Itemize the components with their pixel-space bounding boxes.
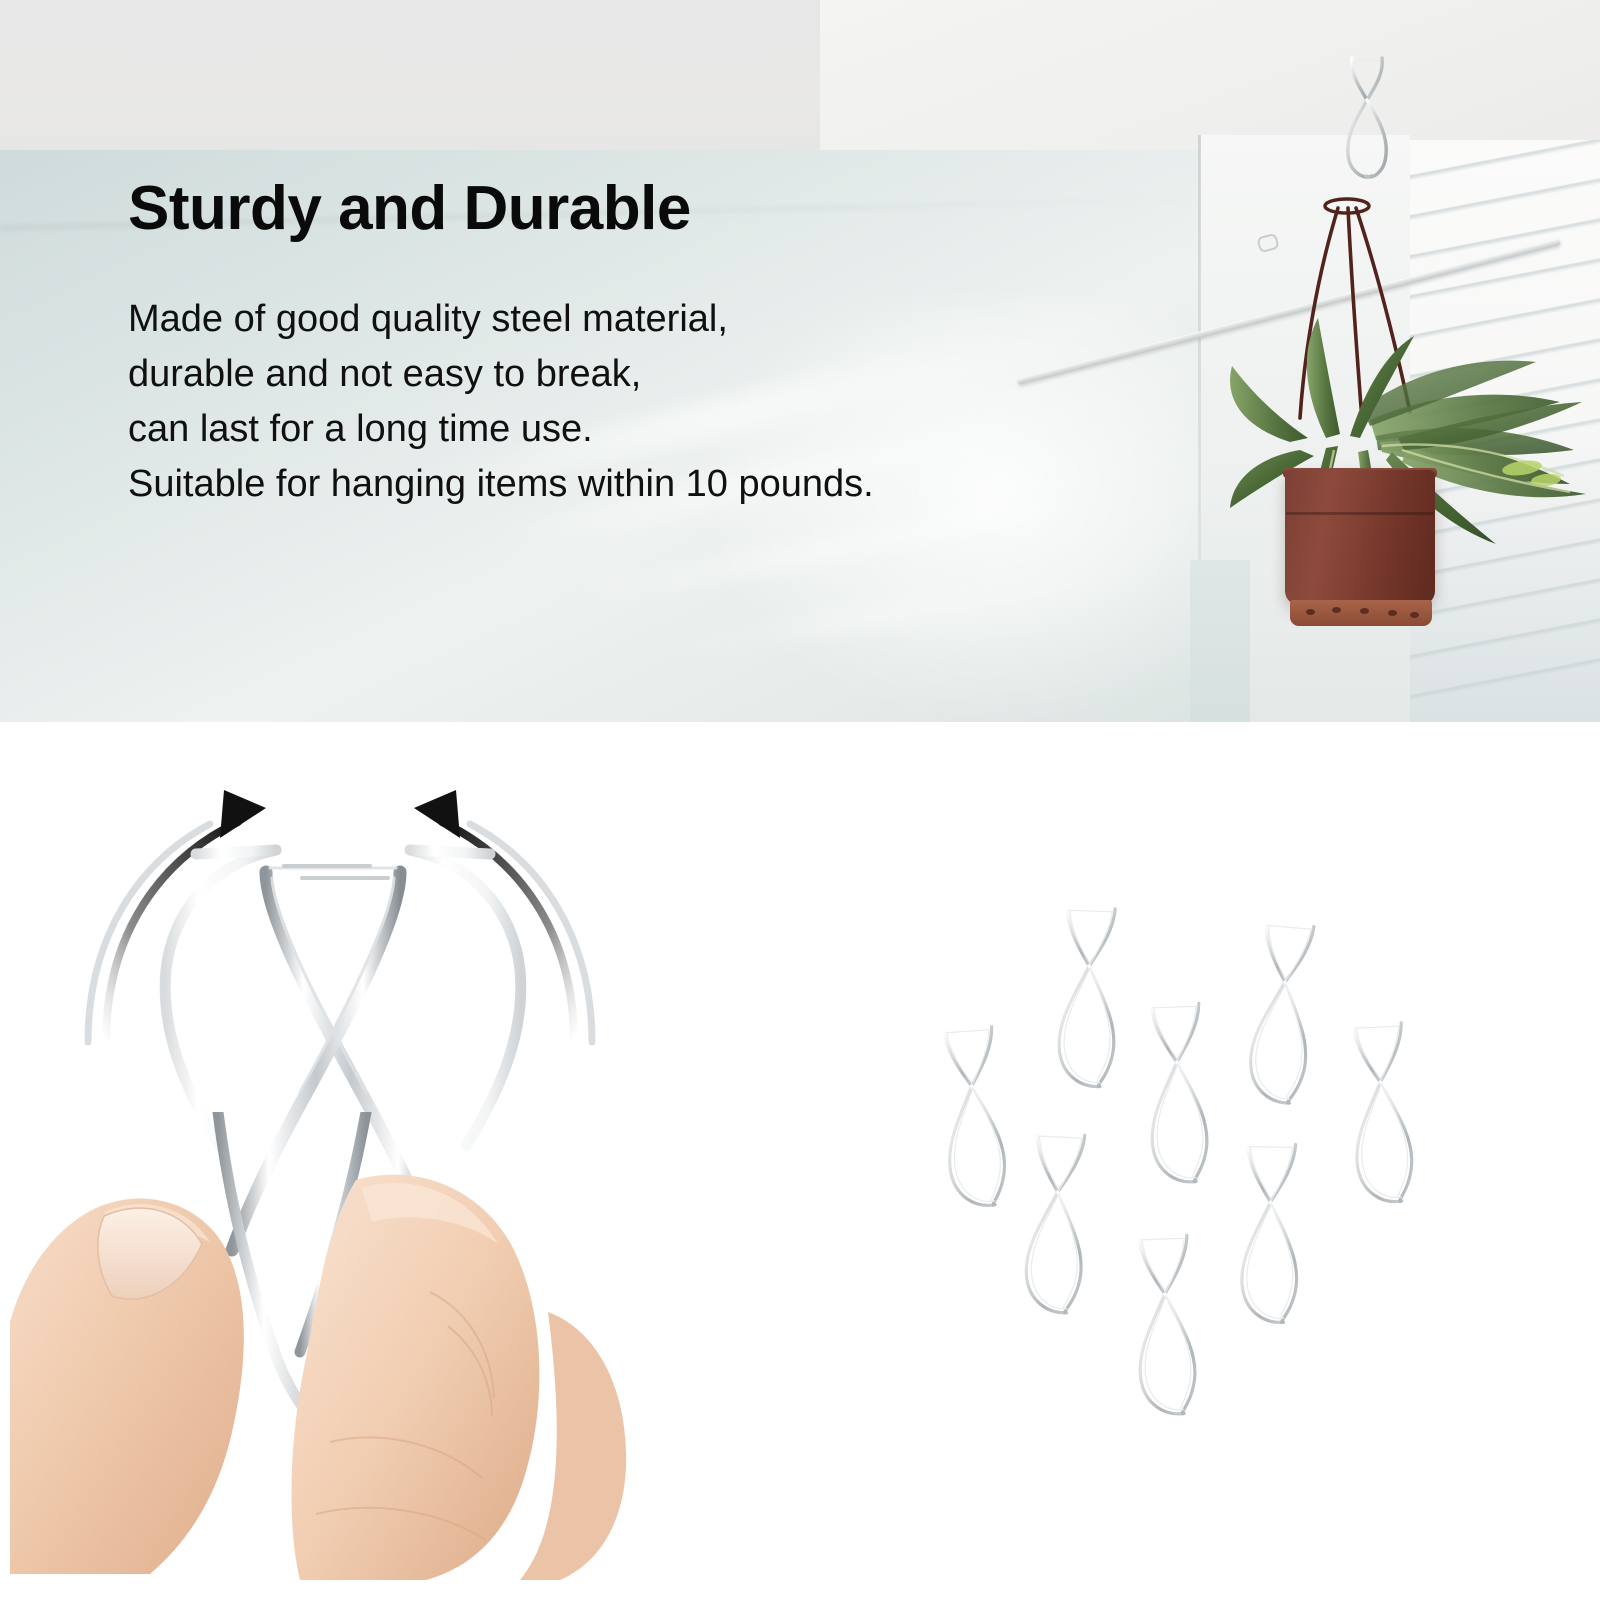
description-line-2: durable and not easy to break, [128,347,874,402]
hook-group [900,872,1420,1472]
hand-pinching-hook [0,1112,640,1582]
bottom-product-panel: hook flexibility demonstration hand pinc… [0,722,1600,1600]
thumb-finger [291,1175,539,1580]
hook-wire-highlight [270,868,396,1092]
description-line-4: Suitable for hanging items within 10 pou… [128,457,874,512]
page-title: Sturdy and Durable [128,178,691,240]
bend-arrow-right-icon [414,790,574,1042]
hook-item [1247,922,1317,1104]
pot-band [1286,512,1434,515]
pot-base [1290,600,1432,626]
hook-ghost-open-arms [165,850,521,1146]
plant-pot [1285,470,1435,605]
hook-item [1350,1023,1414,1204]
description-text: Made of good quality steel material, dur… [128,292,874,512]
description-line-1: Made of good quality steel material, [128,292,874,347]
hook-item [1241,1144,1299,1323]
hook-item [1024,1133,1088,1314]
hook-item [940,1026,1007,1208]
description-line-3: can last for a long time use. [128,402,874,457]
product-marketing-image: Sturdy and Durable Made of good quality … [0,0,1600,1600]
hook-item [1147,1003,1208,1183]
hook-item [1135,1235,1196,1415]
hook-item [1058,907,1119,1087]
top-scene-panel: Sturdy and Durable Made of good quality … [0,0,1600,722]
